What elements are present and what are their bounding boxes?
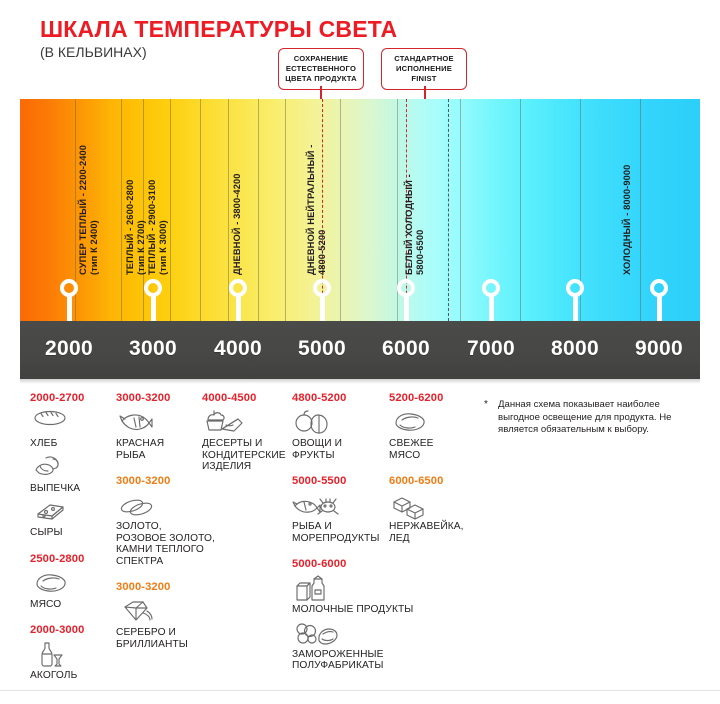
segment-line	[285, 99, 286, 321]
band-label-line: 5800-6500	[415, 174, 426, 275]
legend-column-1: 2000-2700ХЛЕБВЫПЕЧКАСЫРЫ2500-2800МЯСО200…	[30, 392, 84, 684]
segment-line	[640, 99, 641, 321]
band-label-line: СУПЕР ТЕПЛЫЙ - 2200-2400	[78, 145, 89, 275]
legend-range-label: 5200-6200	[389, 392, 464, 404]
scale-tick-4000: 4000	[214, 337, 262, 361]
legend-group-gap	[389, 463, 464, 475]
legend-entry-label: МОЛОЧНЫЕ ПРОДУКТЫ	[292, 604, 413, 616]
segment-line	[258, 99, 259, 321]
legend-label-line: ЛЕД	[389, 533, 464, 545]
legend-column-5: 5200-6200СВЕЖЕЕМЯСО6000-6500НЕРЖАВЕЙКА,Л…	[389, 392, 464, 546]
legend-label-line: КРАСНАЯ	[116, 438, 215, 450]
segment-line	[520, 99, 521, 321]
legend-entry-label: ХЛЕБ	[30, 438, 84, 450]
legend-entry-label: ЗАМОРОЖЕННЫЕПОЛУФАБРИКАТЫ	[292, 649, 413, 672]
legend-entry-label: МЯСО	[30, 599, 84, 611]
band-label-5: ДНЕВНОЙ НЕЙТРАЛЬНЫЙ -4800-5200	[306, 145, 328, 275]
legend-entry-label: СВЕЖЕЕМЯСО	[389, 438, 464, 461]
legend-range-label: 2000-2700	[30, 392, 84, 404]
legend-label-line: СЫРЫ	[30, 527, 84, 539]
legend-entry-label: АКОГОЛЬ	[30, 670, 84, 682]
band-label-line: БЕЛЫЙ ХОЛОДНЫЙ -	[404, 174, 415, 275]
legend-entry: ЗОЛОТО,РОЗОВОЕ ЗОЛОТО,КАМНИ ТЕПЛОГОСПЕКТ…	[116, 490, 215, 567]
legend-label-line: БРИЛЛИАНТЫ	[116, 639, 215, 651]
red-fish-icon	[116, 407, 164, 437]
callout-line: СОХРАНЕНИЕ	[285, 54, 357, 64]
legend-entry-label: ЗОЛОТО,РОЗОВОЕ ЗОЛОТО,КАМНИ ТЕПЛОГОСПЕКТ…	[116, 521, 215, 567]
legend-column-2: 3000-3200КРАСНАЯРЫБА3000-3200ЗОЛОТО,РОЗО…	[116, 392, 215, 652]
legend-entry: СЫРЫ	[30, 496, 84, 539]
band-label-6: БЕЛЫЙ ХОЛОДНЫЙ -5800-6500	[404, 174, 426, 275]
legend-label-line: КОНДИТЕРСКИЕ	[202, 450, 286, 462]
legend-group-gap	[116, 569, 215, 581]
legend-range-label: 2500-2800	[30, 553, 84, 565]
callout-box-2: СТАНДАРТНОЕИСПОЛНЕНИЕFINIST	[381, 48, 467, 90]
alcohol-icon	[30, 639, 78, 669]
stainless-ice-icon	[389, 490, 437, 520]
legend-entry: СВЕЖЕЕМЯСО	[389, 407, 464, 461]
gray-dashed-line	[448, 99, 449, 321]
legend-label-line: ДЕСЕРТЫ И	[202, 438, 286, 450]
page-subtitle: (В КЕЛЬВИНАХ)	[40, 44, 147, 60]
band-label-line: ТЕПЛЫЙ - 2600-2800	[125, 180, 136, 275]
vegetables-fruit-icon	[292, 407, 340, 437]
callout-box-1: СОХРАНЕНИЕЕСТЕСТВЕННОГОЦВЕТА ПРОДУКТА	[278, 48, 364, 90]
legend-entry: СЕРЕБРО ИБРИЛЛИАНТЫ	[116, 596, 215, 650]
legend-label-line: ВЫПЕЧКА	[30, 483, 84, 495]
band-label-line: ТЕПЛЫЙ - 2900-3100	[147, 180, 158, 275]
band-label-2: ТЕПЛЫЙ - 2600-2800(тип К 2700)	[125, 180, 147, 275]
dairy-icon	[292, 573, 340, 603]
legend-note: * Данная схема показывает наиболее выгод…	[484, 399, 704, 437]
scale-tick-9000: 9000	[635, 337, 683, 361]
legend-entry: ХЛЕБ	[30, 407, 84, 450]
page-title: ШКАЛА ТЕМПЕРАТУРЫ СВЕТА	[40, 16, 397, 43]
legend-label-line: РЫБА	[116, 450, 215, 462]
legend-entry: НЕРЖАВЕЙКА,ЛЕД	[389, 490, 464, 544]
band-label-line: 4800-5200	[317, 145, 328, 275]
legend-label-line: ХЛЕБ	[30, 438, 84, 450]
segment-line	[340, 99, 341, 321]
gold-rings-icon	[116, 490, 164, 520]
legend-range-label: 5000-6000	[292, 558, 413, 570]
legend-label-line: СЕРЕБРО И	[116, 627, 215, 639]
cheese-icon	[30, 496, 78, 526]
band-label-7: ХОЛОДНЫЙ - 8000-9000	[622, 165, 633, 275]
legend-entry-label: СЫРЫ	[30, 527, 84, 539]
legend-entry: КРАСНАЯРЫБА	[116, 407, 215, 461]
diamond-icon	[116, 596, 164, 626]
band-label-line: (тип К 2400)	[89, 145, 100, 275]
legend-label-line: СВЕЖЕЕ	[389, 438, 464, 450]
band-label-line: ДНЕВНОЙ - 3800-4200	[232, 173, 243, 275]
note-star: *	[484, 399, 488, 412]
scale-tick-7000: 7000	[467, 337, 515, 361]
scale-tick-8000: 8000	[551, 337, 599, 361]
bread-icon	[30, 407, 78, 437]
legend-column-3: 4000-4500ДЕСЕРТЫ ИКОНДИТЕРСКИЕИЗДЕЛИЯ	[202, 392, 286, 475]
note-text: Данная схема показывает наиболее выгодно…	[498, 399, 704, 437]
scale-tick-5000: 5000	[298, 337, 346, 361]
legend-label-line: ПОЛУФАБРИКАТЫ	[292, 660, 413, 672]
legend-entry: МОЛОЧНЫЕ ПРОДУКТЫ	[292, 573, 413, 616]
legend-label-line: МЯСО	[30, 599, 84, 611]
band-label-3: ТЕПЛЫЙ - 2900-3100(тип К 3000)	[147, 180, 169, 275]
legend-group-gap	[30, 541, 84, 553]
scale-shadow	[20, 379, 700, 384]
band-label-4: ДНЕВНОЙ - 3800-4200	[232, 173, 243, 275]
legend-entry-label: ДЕСЕРТЫ ИКОНДИТЕРСКИЕИЗДЕЛИЯ	[202, 438, 286, 473]
frozen-food-icon	[292, 618, 340, 648]
legend-entry-label: КРАСНАЯРЫБА	[116, 438, 215, 461]
legend-label-line: МЯСО	[389, 450, 464, 462]
footer-divider	[0, 690, 720, 691]
band-label-line: (тип К 2700)	[136, 180, 147, 275]
legend-entry: ЗАМОРОЖЕННЫЕПОЛУФАБРИКАТЫ	[292, 618, 413, 672]
legend-label-line: РОЗОВОЕ ЗОЛОТО,	[116, 533, 215, 545]
legend-entry-label: ВЫПЕЧКА	[30, 483, 84, 495]
legend-label-line: ЗАМОРОЖЕННЫЕ	[292, 649, 413, 661]
kelvin-scale-bar: 20003000400050006000700080009000	[20, 321, 700, 379]
temperature-gradient-bar: СУПЕР ТЕПЛЫЙ - 2200-2400(тип К 2400)ТЕПЛ…	[20, 99, 700, 321]
callout-line: FINIST	[388, 74, 460, 84]
legend-label-line: МОЛОЧНЫЕ ПРОДУКТЫ	[292, 604, 413, 616]
legend-entry: ДЕСЕРТЫ ИКОНДИТЕРСКИЕИЗДЕЛИЯ	[202, 407, 286, 473]
legend-label-line: СПЕКТРА	[116, 556, 215, 568]
scale-tick-6000: 6000	[382, 337, 430, 361]
legend-group-gap	[292, 546, 413, 558]
legend-group-gap	[116, 463, 215, 475]
segment-line	[200, 99, 201, 321]
legend-entry: АКОГОЛЬ	[30, 639, 84, 682]
legend-range-label: 2000-3000	[30, 624, 84, 636]
band-label-line: (тип К 3000)	[158, 180, 169, 275]
legend-range-label: 3000-3200	[116, 475, 215, 487]
callout-line: ЕСТЕСТВЕННОГО	[285, 64, 357, 74]
legend-label-line: АКОГОЛЬ	[30, 670, 84, 682]
legend-range-label: 6000-6500	[389, 475, 464, 487]
gradient-fill	[20, 99, 700, 321]
fresh-meat-icon	[389, 407, 437, 437]
legend-label-line: ЗОЛОТО,	[116, 521, 215, 533]
legend-entry-label: СЕРЕБРО ИБРИЛЛИАНТЫ	[116, 627, 215, 650]
infographic-page: ШКАЛА ТЕМПЕРАТУРЫ СВЕТА (В КЕЛЬВИНАХ) СО…	[0, 0, 720, 704]
legend-label-line: КАМНИ ТЕПЛОГО	[116, 544, 215, 556]
legend-group-gap	[30, 612, 84, 624]
scale-tick-2000: 2000	[45, 337, 93, 361]
band-label-1: СУПЕР ТЕПЛЫЙ - 2200-2400(тип К 2400)	[78, 145, 100, 275]
segment-line	[121, 99, 122, 321]
legend-range-label: 4000-4500	[202, 392, 286, 404]
legend-range-label: 3000-3200	[116, 581, 215, 593]
segment-line	[170, 99, 171, 321]
dessert-icon	[202, 407, 250, 437]
legend-label-line: ИЗДЕЛИЯ	[202, 461, 286, 473]
legend-entry: МЯСО	[30, 568, 84, 611]
callout-line: ЦВЕТА ПРОДУКТА	[285, 74, 357, 84]
meat-icon	[30, 568, 78, 598]
legend-label-line: НЕРЖАВЕЙКА,	[389, 521, 464, 533]
seafood-icon	[292, 490, 340, 520]
legend-entry-label: НЕРЖАВЕЙКА,ЛЕД	[389, 521, 464, 544]
legend-range-label: 3000-3200	[116, 392, 215, 404]
product-legend: 2000-2700ХЛЕБВЫПЕЧКАСЫРЫ2500-2800МЯСО200…	[0, 392, 720, 692]
callout-line: СТАНДАРТНОЕ	[388, 54, 460, 64]
band-label-line: ХОЛОДНЫЙ - 8000-9000	[622, 165, 633, 275]
legend-entry: ВЫПЕЧКА	[30, 452, 84, 495]
band-label-line: ДНЕВНОЙ НЕЙТРАЛЬНЫЙ -	[306, 145, 317, 275]
callout-line: ИСПОЛНЕНИЕ	[388, 64, 460, 74]
scale-tick-3000: 3000	[129, 337, 177, 361]
segment-line	[460, 99, 461, 321]
pastry-icon	[30, 452, 78, 482]
